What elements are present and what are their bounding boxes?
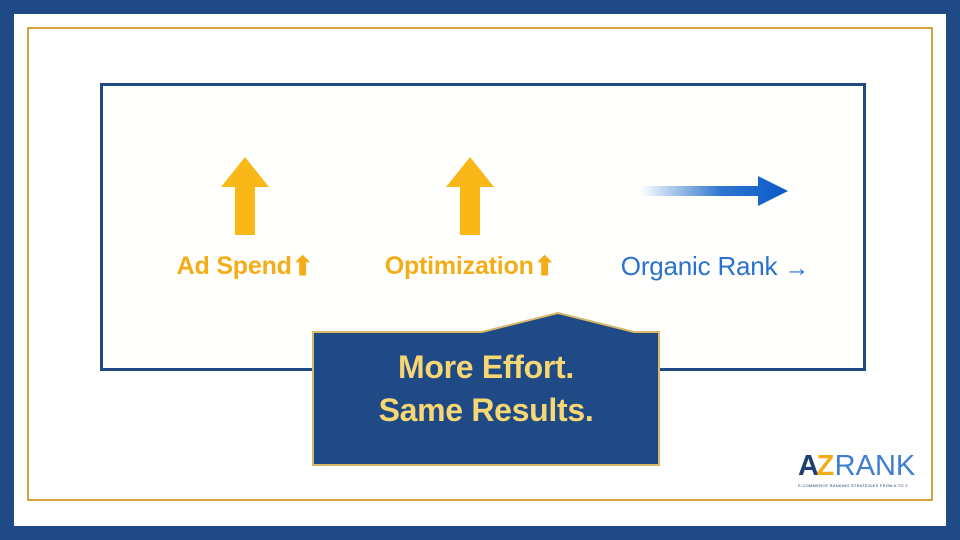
arrow-up-icon bbox=[219, 145, 271, 237]
logo-wordmark: AZRANK bbox=[798, 452, 930, 481]
diagram-label-text: Ad Spend bbox=[177, 252, 292, 280]
callout-line-2: Same Results. bbox=[312, 389, 660, 432]
diagram-label-organic-rank: Organic Rank → bbox=[621, 251, 809, 283]
arrow-up-icon bbox=[444, 145, 496, 237]
callout-line-1: More Effort. bbox=[312, 346, 660, 389]
logo-tagline: E-COMMERCE RANKING STRATEGIES FROM A TO … bbox=[798, 483, 930, 488]
diagram-item-organic-rank: Organic Rank → bbox=[580, 145, 850, 283]
diagram-item-ad-spend: Ad Spend⬆ bbox=[130, 145, 360, 282]
diagram-label-text: Optimization bbox=[385, 252, 534, 280]
callout-badge: More Effort. Same Results. bbox=[312, 312, 660, 466]
trend-arrow-right-glyph: → bbox=[784, 254, 809, 282]
callout-text: More Effort. Same Results. bbox=[312, 346, 660, 431]
azrank-logo[interactable]: AZRANK E-COMMERCE RANKING STRATEGIES FRO… bbox=[798, 452, 930, 494]
slide-canvas: Ad Spend⬆ Optimization⬆ bbox=[0, 0, 960, 540]
logo-letter-z: Z bbox=[816, 450, 833, 482]
diagram-item-optimization: Optimization⬆ bbox=[345, 145, 595, 282]
arrow-right-icon bbox=[580, 145, 850, 237]
logo-word-rank: RANK bbox=[835, 450, 916, 482]
trend-arrow-up-glyph: ⬆ bbox=[292, 251, 314, 281]
diagram-label-ad-spend: Ad Spend⬆ bbox=[177, 251, 314, 282]
diagram-label-optimization: Optimization⬆ bbox=[385, 251, 556, 282]
trend-arrow-up-glyph: ⬆ bbox=[534, 251, 556, 281]
diagram-label-text: Organic Rank bbox=[621, 251, 778, 281]
